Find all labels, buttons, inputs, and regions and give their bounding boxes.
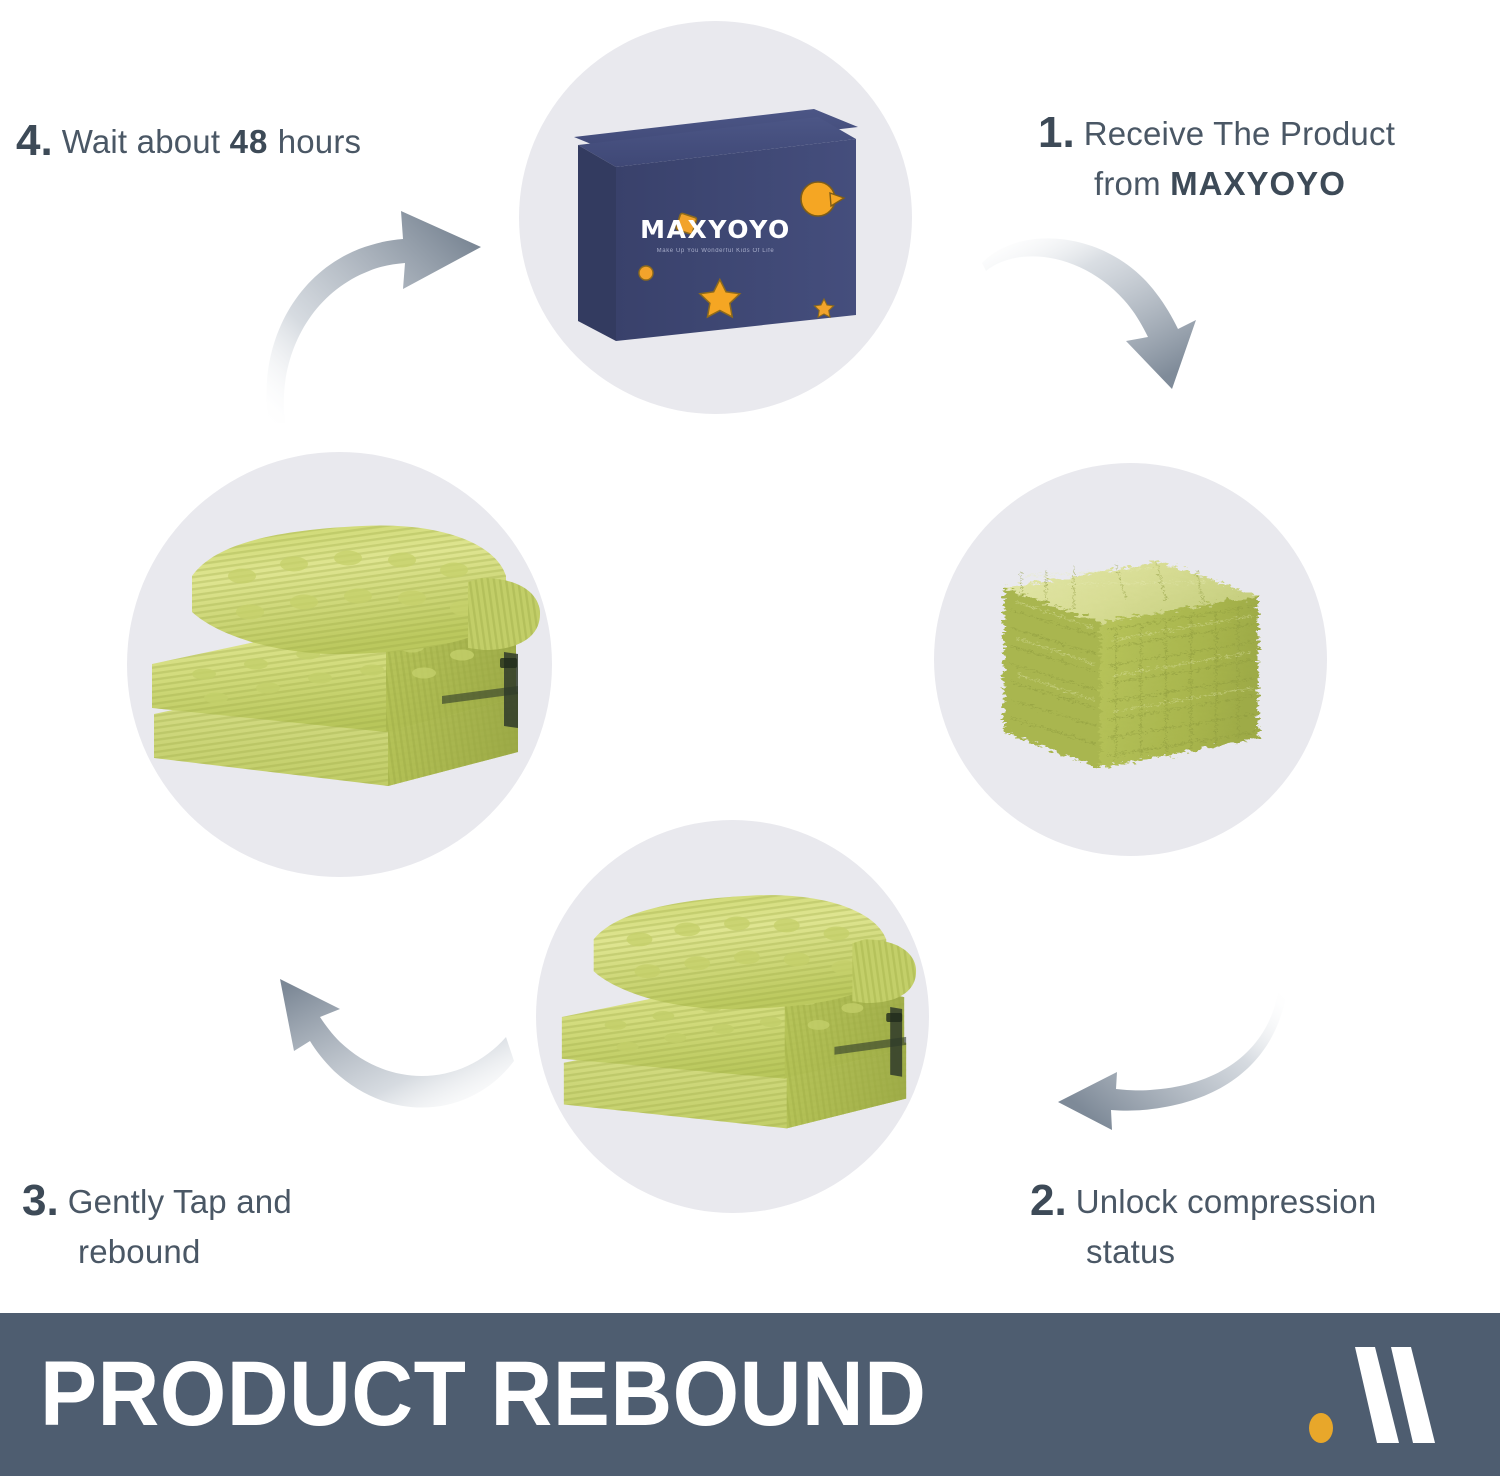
- maxyoyo-m-mark-icon: [1303, 1335, 1478, 1455]
- step-3-label: 3.Gently Tap and rebound: [22, 1172, 412, 1274]
- step-3-line-2: rebound: [78, 1230, 412, 1274]
- bottom-banner: PRODUCT REBOUND: [0, 1313, 1500, 1476]
- folded-mattress-full-icon: [130, 500, 550, 830]
- step-2-line-1: Unlock compression: [1076, 1183, 1377, 1220]
- step-1-brand: MAXYOYO: [1170, 165, 1346, 202]
- arrow-4-to-1-icon: [255, 185, 555, 430]
- compressed-block-icon: [966, 510, 1296, 810]
- step-1-label: 1.Receive The Product from MAXYOYO: [1038, 104, 1468, 206]
- step-2-line-2: status: [1086, 1230, 1470, 1274]
- step-4-label: 4.Wait about 48 hours: [16, 112, 486, 170]
- shipping-box-icon: [556, 93, 876, 343]
- step-1-line-1: Receive The Product: [1084, 115, 1395, 152]
- step-4-text-suffix: hours: [268, 123, 361, 160]
- shipping-box-art: MAXYOYO Make Up You Wonderful Kids Of Li…: [556, 93, 876, 343]
- step-4-number: 4.: [16, 112, 53, 170]
- step-1-number: 1.: [1038, 104, 1075, 162]
- step-2-number: 2.: [1030, 1172, 1067, 1230]
- step-2-label: 2.Unlock compression status: [1030, 1172, 1470, 1274]
- arrow-3-to-4-icon: [250, 925, 550, 1140]
- infographic-stage: MAXYOYO Make Up You Wonderful Kids Of Li…: [0, 0, 1500, 1310]
- step-1-image-circle: MAXYOYO Make Up You Wonderful Kids Of Li…: [519, 21, 912, 414]
- folded-mattress-partial-icon: [536, 867, 929, 1167]
- step-4-hours-value: 48: [230, 123, 269, 160]
- step-2-image-circle: [934, 463, 1327, 856]
- step-4-image-circle: [127, 452, 552, 877]
- step-3-image-circle: [536, 820, 929, 1213]
- step-4-text-prefix: Wait about: [62, 123, 230, 160]
- arrow-2-to-3-icon: [1000, 990, 1290, 1165]
- arrow-1-to-2-icon: [960, 205, 1260, 435]
- banner-title: PRODUCT REBOUND: [40, 1342, 926, 1447]
- step-3-line-1: Gently Tap and: [68, 1183, 292, 1220]
- step-1-line-2: from MAXYOYO: [1094, 162, 1468, 206]
- step-3-number: 3.: [22, 1172, 59, 1230]
- step-1-line-2-prefix: from: [1094, 165, 1170, 202]
